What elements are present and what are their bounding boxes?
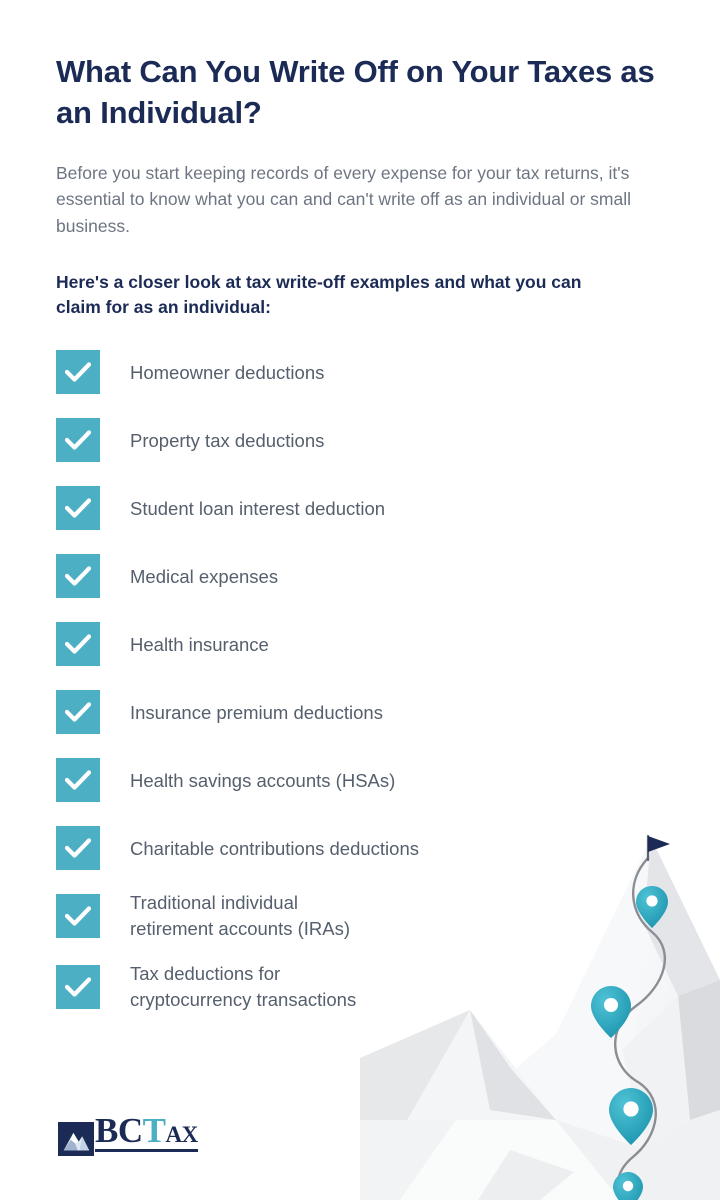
mountain-facet [478,1150,574,1200]
mountain-logo-icon [58,1122,94,1156]
logo-text-bc: BC [95,1111,143,1150]
map-pin-icon [613,1172,643,1200]
check-icon [56,418,100,462]
infographic-page: What Can You Write Off on Your Taxes as … [0,0,720,1200]
logo-wordmark: BCTAX [95,1114,198,1156]
page-title: What Can You Write Off on Your Taxes as … [56,52,664,134]
bctax-logo[interactable]: BCTAX [58,1114,198,1156]
write-off-checklist: Homeowner deductions Property tax deduct… [56,350,664,1012]
list-item-label: Homeowner deductions [130,360,324,386]
content-column: What Can You Write Off on Your Taxes as … [0,0,720,1012]
list-item-label: Health savings accounts (HSAs) [130,768,395,794]
logo-text-t: T [143,1111,166,1150]
section-subheading: Here's a closer look at tax write-off ex… [56,270,626,321]
check-icon [56,350,100,394]
logo-text-ax: AX [165,1122,197,1147]
list-item-label: Medical expenses [130,564,278,590]
mountain-facet [556,1110,720,1200]
check-icon [56,894,100,938]
list-item: Traditional individual retirement accoun… [56,890,664,941]
list-item-label: Tax deductions for cryptocurrency transa… [130,961,356,1012]
list-item: Medical expenses [56,554,664,598]
check-icon [56,486,100,530]
mountain-facet [622,996,690,1150]
check-icon [56,965,100,1009]
list-item-label: Property tax deductions [130,428,324,454]
check-icon [56,826,100,870]
list-item-label: Insurance premium deductions [130,700,383,726]
list-item: Tax deductions for cryptocurrency transa… [56,961,664,1012]
mountain-facet [400,1120,620,1200]
mountain-facet [398,1010,556,1136]
check-icon [56,758,100,802]
list-item: Student loan interest deduction [56,486,664,530]
check-icon [56,554,100,598]
check-icon [56,690,100,734]
mountain-facet [470,1010,556,1120]
check-icon [56,622,100,666]
list-item-label: Student loan interest deduction [130,496,385,522]
list-item: Property tax deductions [56,418,664,462]
mountain-facet [360,1010,470,1136]
list-item-label: Traditional individual retirement accoun… [130,890,350,941]
list-item: Health savings accounts (HSAs) [56,758,664,802]
list-item: Homeowner deductions [56,350,664,394]
list-item: Health insurance [56,622,664,666]
intro-paragraph: Before you start keeping records of ever… [56,160,636,240]
list-item-label: Charitable contributions deductions [130,836,419,862]
map-pin-icon [609,1088,653,1145]
list-item-label: Health insurance [130,632,269,658]
list-item: Insurance premium deductions [56,690,664,734]
list-item: Charitable contributions deductions [56,826,664,870]
mountain-facet [360,1120,456,1200]
